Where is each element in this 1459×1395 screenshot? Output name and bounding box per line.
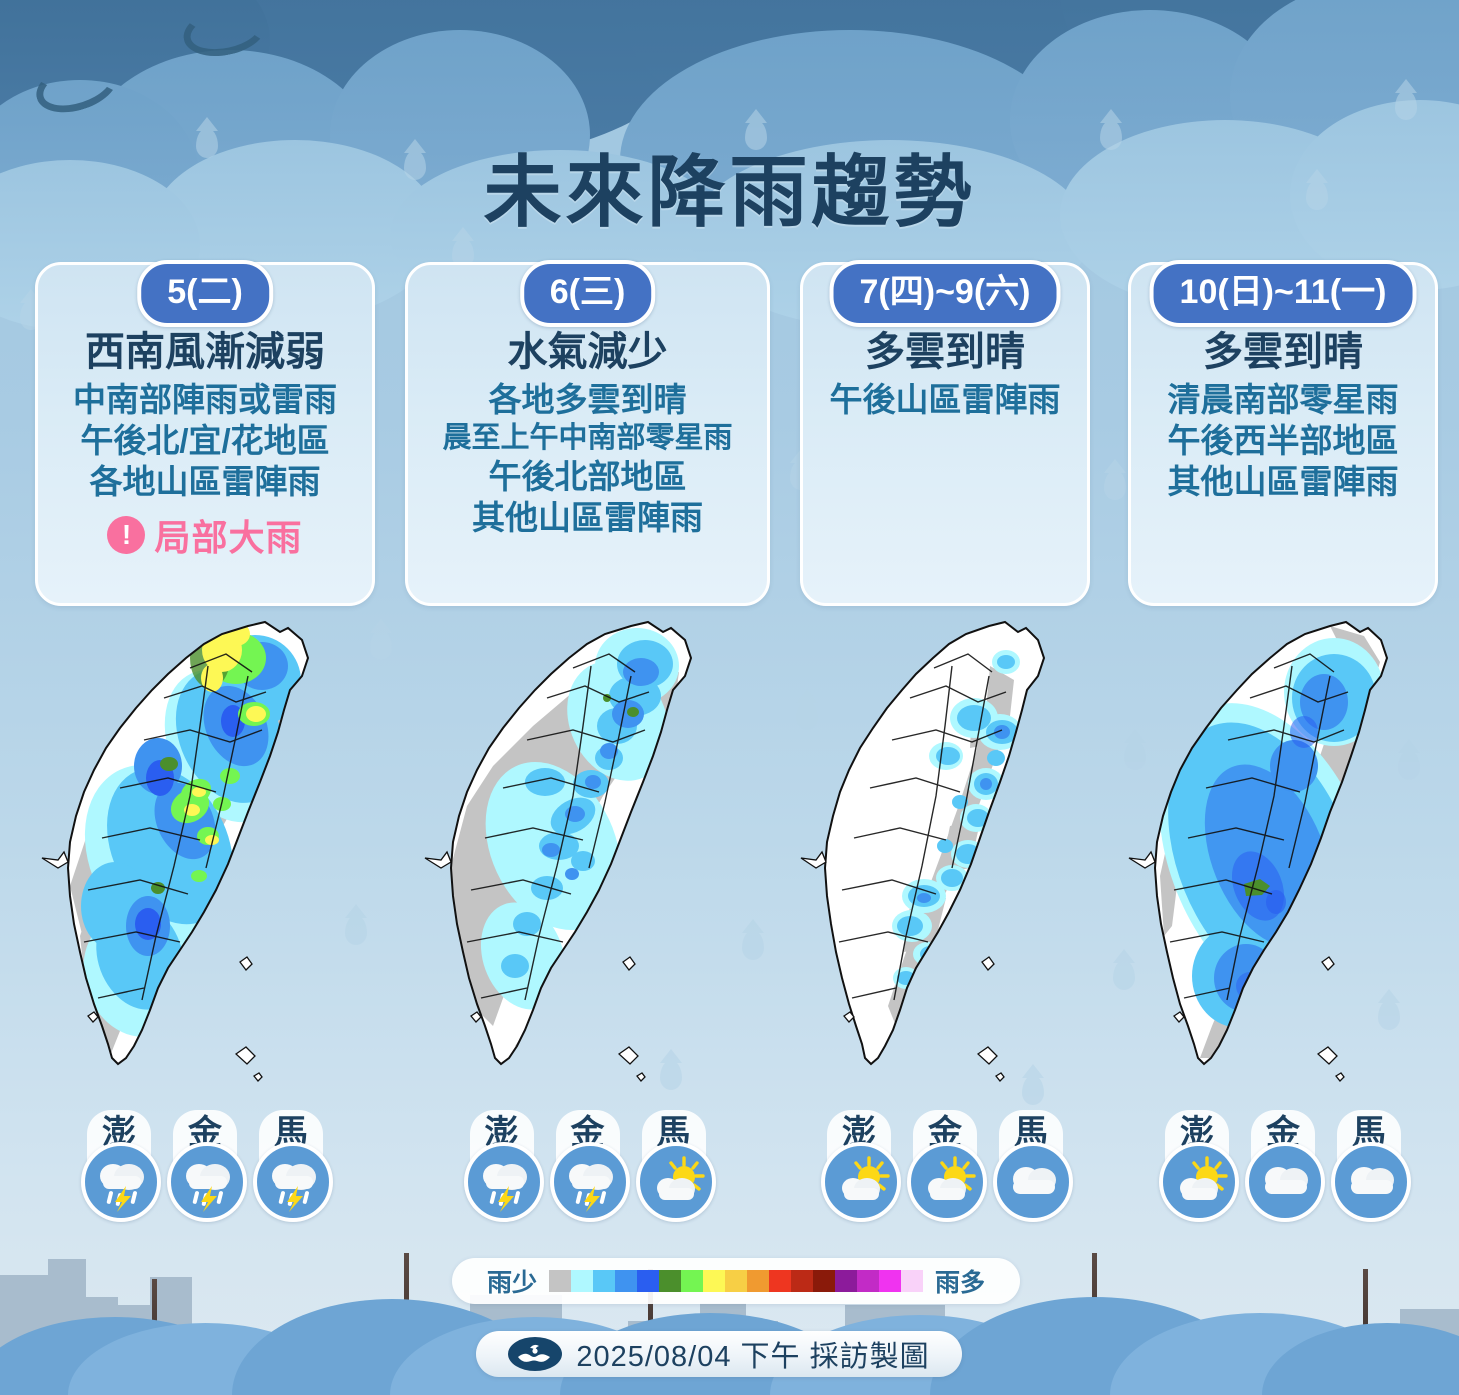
island-penghu: 澎	[464, 1110, 540, 1222]
date-badge-2: 6(三)	[520, 260, 656, 327]
date-badge-1: 5(二)	[137, 260, 273, 327]
legend-swatch	[659, 1270, 681, 1292]
island-matsu: 馬	[1331, 1110, 1407, 1222]
detail-line: 晨至上午中南部零星雨	[416, 421, 759, 457]
detail-line: 中南部陣雨或雷雨	[46, 380, 364, 421]
raindrop-icon	[1395, 90, 1417, 120]
rainfall-map-4	[1128, 606, 1448, 1106]
legend-swatch	[857, 1270, 879, 1292]
island-forecast-row-3: 澎 金 馬	[800, 1110, 1090, 1222]
island-matsu: 馬	[636, 1110, 712, 1222]
thunderstorm-rain-icon	[253, 1142, 333, 1222]
partly-sunny-icon	[907, 1142, 987, 1222]
cwa-logo	[508, 1337, 562, 1371]
forecast-card-4: 10(日)~11(一) 多雲到晴 清晨南部零星雨 午後西半部地區 其他山區雷陣雨	[1128, 262, 1438, 606]
detail-line: 各地多雲到晴	[416, 380, 759, 421]
partly-sunny-icon	[636, 1142, 716, 1222]
legend-swatch	[703, 1270, 725, 1292]
forecast-column-4: 10(日)~11(一) 多雲到晴 清晨南部零星雨 午後西半部地區 其他山區雷陣雨	[1128, 262, 1438, 1222]
forecast-column-1: 5(二) 西南風漸減弱 中南部陣雨或雷雨 午後北/宜/花地區 各地山區雷陣雨 !…	[35, 262, 375, 1222]
island-kinmen: 金	[550, 1110, 626, 1222]
detail-line: 清晨南部零星雨	[1139, 380, 1427, 421]
exclamation-icon: !	[107, 516, 145, 554]
island-matsu: 馬	[993, 1110, 1069, 1222]
partly-sunny-icon	[1159, 1142, 1239, 1222]
cloudy-icon	[1245, 1142, 1325, 1222]
island-kinmen: 金	[167, 1110, 243, 1222]
detail-line: 午後北部地區	[416, 457, 759, 498]
legend-swatch	[747, 1270, 769, 1292]
headline-3: 多雲到晴	[811, 329, 1079, 376]
footer-timestamp: 2025/08/04 下午 採訪製圖	[576, 1333, 929, 1375]
legend-swatch	[681, 1270, 703, 1292]
detail-line: 午後山區雷陣雨	[811, 380, 1079, 421]
legend-color-bar	[549, 1270, 923, 1292]
legend-swatch	[615, 1270, 637, 1292]
rainfall-map-1	[40, 606, 370, 1106]
warning-text: 局部大雨	[154, 509, 302, 561]
legend-swatch	[813, 1270, 835, 1292]
legend-swatch	[637, 1270, 659, 1292]
rainfall-legend: 雨少 雨多	[452, 1258, 1020, 1304]
island-forecast-row-4: 澎 金 馬	[1128, 1110, 1438, 1222]
warning-row-1: ! 局部大雨	[46, 509, 364, 561]
legend-swatch	[835, 1270, 857, 1292]
legend-swatch	[901, 1270, 923, 1292]
legend-swatch	[879, 1270, 901, 1292]
legend-swatch	[725, 1270, 747, 1292]
rainfall-map-3	[800, 606, 1100, 1106]
headline-2: 水氣減少	[416, 329, 759, 376]
island-forecast-row-2: 澎 金 馬	[405, 1110, 770, 1222]
partly-sunny-icon	[821, 1142, 901, 1222]
date-badge-4: 10(日)~11(一)	[1150, 260, 1417, 327]
legend-swatch	[791, 1270, 813, 1292]
thunderstorm-rain-icon	[81, 1142, 161, 1222]
cloudy-icon	[1331, 1142, 1411, 1222]
detail-line: 午後北/宜/花地區	[46, 421, 364, 462]
island-matsu: 馬	[253, 1110, 329, 1222]
island-penghu: 澎	[1159, 1110, 1235, 1222]
forecast-column-3: 7(四)~9(六) 多雲到晴 午後山區雷陣雨	[800, 262, 1090, 1222]
legend-swatch	[549, 1270, 571, 1292]
thunderstorm-rain-icon	[167, 1142, 247, 1222]
forecast-card-1: 5(二) 西南風漸減弱 中南部陣雨或雷雨 午後北/宜/花地區 各地山區雷陣雨 !…	[35, 262, 375, 606]
island-kinmen: 金	[907, 1110, 983, 1222]
date-badge-3: 7(四)~9(六)	[830, 260, 1061, 327]
headline-1: 西南風漸減弱	[46, 329, 364, 376]
legend-swatch	[593, 1270, 615, 1292]
island-penghu: 澎	[821, 1110, 897, 1222]
thunderstorm-rain-icon	[464, 1142, 544, 1222]
legend-swatch	[769, 1270, 791, 1292]
thunderstorm-rain-icon	[550, 1142, 630, 1222]
headline-4: 多雲到晴	[1139, 329, 1427, 376]
rainfall-map-2	[423, 606, 753, 1106]
forecast-columns: 5(二) 西南風漸減弱 中南部陣雨或雷雨 午後北/宜/花地區 各地山區雷陣雨 !…	[0, 262, 1459, 1272]
cloudy-icon	[993, 1142, 1073, 1222]
detail-line: 午後西半部地區	[1139, 421, 1427, 462]
forecast-card-3: 7(四)~9(六) 多雲到晴 午後山區雷陣雨	[800, 262, 1090, 606]
forecast-card-2: 6(三) 水氣減少 各地多雲到晴 晨至上午中南部零星雨 午後北部地區 其他山區雷…	[405, 262, 770, 606]
legend-high-label: 雨多	[935, 1263, 985, 1299]
detail-line: 其他山區雷陣雨	[416, 498, 759, 539]
page-title: 未來降雨趨勢	[0, 130, 1459, 242]
detail-line: 各地山區雷陣雨	[46, 462, 364, 503]
island-penghu: 澎	[81, 1110, 157, 1222]
footer-banner: 2025/08/04 下午 採訪製圖	[476, 1331, 962, 1377]
legend-low-label: 雨少	[487, 1263, 537, 1299]
island-kinmen: 金	[1245, 1110, 1321, 1222]
legend-swatch	[571, 1270, 593, 1292]
detail-line: 其他山區雷陣雨	[1139, 462, 1427, 503]
forecast-column-2: 6(三) 水氣減少 各地多雲到晴 晨至上午中南部零星雨 午後北部地區 其他山區雷…	[405, 262, 770, 1222]
island-forecast-row-1: 澎 金 馬	[35, 1110, 375, 1222]
